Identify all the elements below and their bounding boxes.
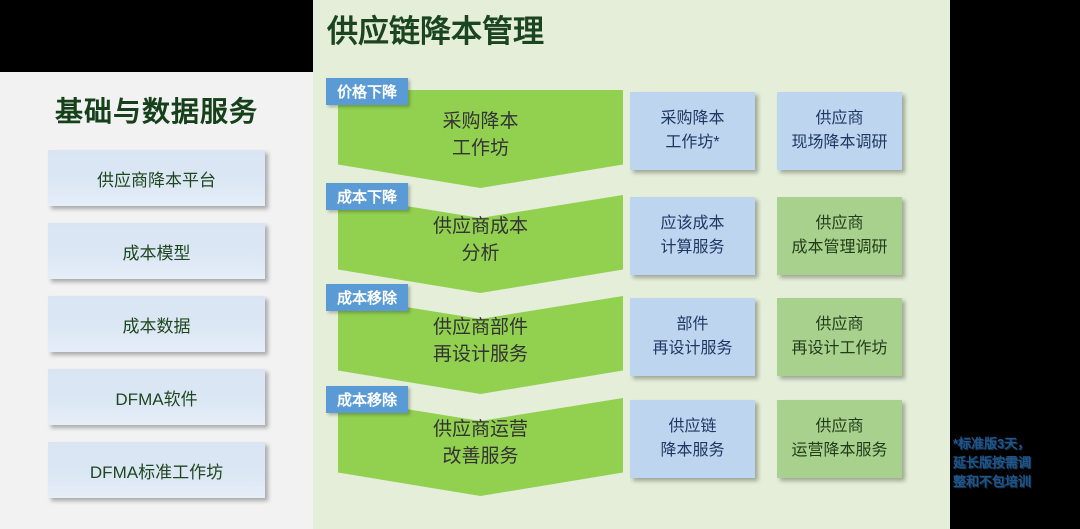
service-card[interactable]: 采购降本 工作坊* [630,92,755,170]
service-card-line2: 计算服务 [660,236,724,260]
service-card-line1: 采购降本 [660,107,724,131]
page-title: 供应链降本管理 [327,6,544,51]
chevron-label: 采购降本 工作坊 [338,108,623,162]
service-card[interactable]: 供应商 再设计工作坊 [777,298,902,376]
footnote-line1: *标准版3天， [953,434,1077,453]
chevron-label: 供应商部件 再设计服务 [338,314,623,368]
sidebar-item-label: 供应商降本平台 [97,166,216,191]
sidebar-item-cost-model[interactable]: 成本模型 [48,223,265,279]
chevron-label-line1: 供应商运营 [338,416,623,443]
chevron-label-line1: 供应商部件 [338,314,623,341]
sidebar-item-dfma-software[interactable]: DFMA软件 [48,369,265,425]
service-card-line2: 成本管理调研 [791,236,887,260]
sidebar-item-supplier-cost-platform[interactable]: 供应商降本平台 [48,150,265,206]
process-row: 成本移除 供应商部件 再设计服务 部件 再设计服务 供应商 再设计工作坊 [313,284,950,389]
chevron-label: 供应商成本 分析 [338,213,623,267]
process-row: 成本移除 供应商运营 改善服务 供应链 降本服务 供应商 运营降本服务 [313,386,950,491]
chevron-label-line2: 改善服务 [338,443,623,470]
sidebar-item-label: 成本数据 [123,312,191,337]
footnote-line2: 延长版按需调 [953,453,1077,472]
service-card-line1: 供应商 [791,415,887,439]
service-card-line1: 供应商 [791,212,887,236]
service-card[interactable]: 供应商 现场降本调研 [777,92,902,170]
main-panel: 供应链降本管理 价格下降 采购降本 工作坊 采购降本 工作坊* 供应商 [313,0,950,529]
stage-badge: 价格下降 [326,78,408,105]
service-card[interactable]: 供应链 降本服务 [630,400,755,478]
service-card[interactable]: 供应商 运营降本服务 [777,400,902,478]
service-card-line1: 供应商 [791,107,887,131]
service-card[interactable]: 供应商 成本管理调研 [777,197,902,275]
sidebar-item-label: DFMA软件 [115,385,197,410]
stage-badge: 成本移除 [326,386,408,413]
service-card-line2: 再设计工作坊 [791,337,887,361]
service-card-line1: 供应商 [791,313,887,337]
chevron-label-line2: 工作坊 [338,135,623,162]
chevron-label-line2: 分析 [338,240,623,267]
sidebar-item-label: DFMA标准工作坊 [90,458,223,483]
service-card-line1: 应该成本 [660,212,724,236]
service-card[interactable]: 应该成本 计算服务 [630,197,755,275]
service-card[interactable]: 部件 再设计服务 [630,298,755,376]
process-row: 成本下降 供应商成本 分析 应该成本 计算服务 供应商 成本管理调研 [313,183,950,288]
service-card-line2: 运营降本服务 [791,439,887,463]
sidebar-item-label: 成本模型 [123,239,191,264]
process-row: 价格下降 采购降本 工作坊 采购降本 工作坊* 供应商 现场降本调研 [313,78,950,183]
footnote-text: *标准版3天， 延长版按需调 整和不包培训 [953,434,1077,491]
chevron-label-line1: 供应商成本 [338,213,623,240]
service-card-line1: 部件 [652,313,732,337]
service-card-line1: 供应链 [660,415,724,439]
service-card-line2: 再设计服务 [652,337,732,361]
stage-badge: 成本移除 [326,284,408,311]
service-card-line2: 工作坊* [660,131,724,155]
chevron-label-line2: 再设计服务 [338,341,623,368]
stage-badge: 成本下降 [326,183,408,210]
sidebar-panel: 基础与数据服务 供应商降本平台 成本模型 成本数据 DFMA软件 DFMA标准工… [0,72,313,529]
chevron-label: 供应商运营 改善服务 [338,416,623,470]
footnote-line3: 整和不包培训 [953,472,1077,491]
service-card-line2: 现场降本调研 [791,131,887,155]
sidebar-item-dfma-workshop[interactable]: DFMA标准工作坊 [48,442,265,498]
sidebar-title: 基础与数据服务 [0,90,313,130]
chevron-label-line1: 采购降本 [338,108,623,135]
sidebar-item-cost-data[interactable]: 成本数据 [48,296,265,352]
slide-canvas: 基础与数据服务 供应商降本平台 成本模型 成本数据 DFMA软件 DFMA标准工… [0,0,1080,529]
service-card-line2: 降本服务 [660,439,724,463]
sidebar-item-list: 供应商降本平台 成本模型 成本数据 DFMA软件 DFMA标准工作坊 [48,150,265,515]
